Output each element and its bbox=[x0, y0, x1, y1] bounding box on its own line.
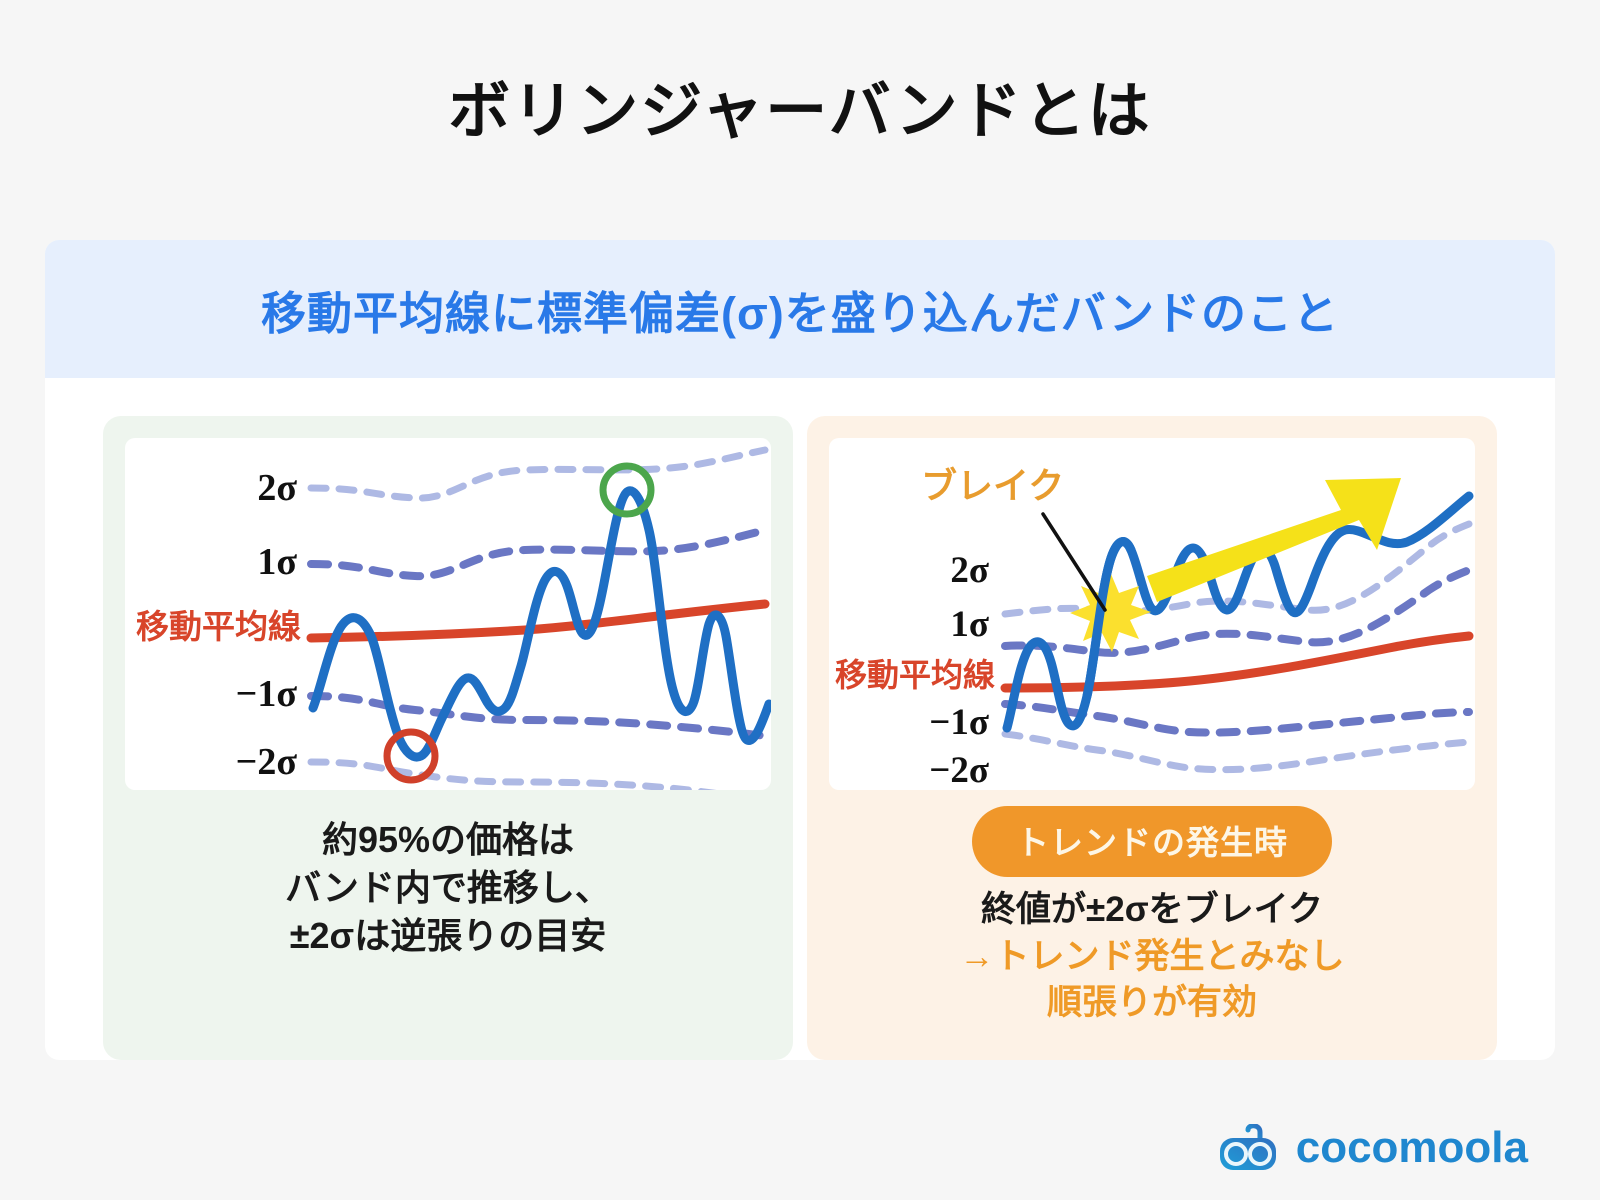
subtitle-text: 移動平均線に標準偏差(σ)を盛り込んだバンドのこと bbox=[261, 277, 1339, 342]
logo-text: cocomoola bbox=[1296, 1126, 1528, 1170]
label-minus-1sigma: −1σ bbox=[236, 673, 298, 715]
label-minus-2sigma: −2σ bbox=[236, 741, 298, 783]
label-moving-average: 移動平均線 bbox=[835, 657, 995, 693]
chart-range-market: 2σ 1σ 移動平均線 −1σ −2σ bbox=[125, 438, 771, 790]
caption-range-market: 約95%の価格は バンド内で推移し、 ±2σは逆張りの目安 bbox=[285, 816, 611, 960]
band-upper-1sigma bbox=[311, 530, 765, 576]
band-lower-2sigma bbox=[311, 762, 765, 790]
label-minus-1sigma: −1σ bbox=[929, 702, 989, 743]
label-moving-average: 移動平均線 bbox=[136, 608, 301, 645]
label-plus-1sigma: 1σ bbox=[257, 541, 297, 583]
content-card: 移動平均線に標準偏差(σ)を盛り込んだバンドのこと 2σ 1σ 移動平均線 −1… bbox=[45, 240, 1555, 1060]
label-minus-2sigma: −2σ bbox=[929, 750, 989, 790]
brand-logo[interactable]: cocomoola bbox=[1218, 1124, 1528, 1172]
label-plus-2sigma: 2σ bbox=[257, 467, 297, 509]
caption-line-1: 終値が±2σをブレイク bbox=[959, 887, 1344, 934]
status-badge: トレンドの発生時 bbox=[972, 806, 1332, 877]
page-title: ボリンジャーバンドとは bbox=[0, 78, 1600, 146]
caption-line-3: 順張りが有効 bbox=[959, 980, 1344, 1027]
line-moving-average bbox=[1005, 636, 1469, 688]
label-plus-1sigma: 1σ bbox=[950, 604, 989, 645]
panels-container: 2σ 1σ 移動平均線 −1σ −2σ bbox=[45, 378, 1555, 1060]
annotation-break-label: ブレイク bbox=[921, 465, 1064, 506]
panel-trend-market: 2σ 1σ 移動平均線 −1σ −2σ bbox=[807, 416, 1497, 1060]
caption-line-1: 約95%の価格は bbox=[285, 816, 611, 864]
caption-line-3: ±2σは逆張りの目安 bbox=[285, 912, 611, 960]
subtitle-band: 移動平均線に標準偏差(σ)を盛り込んだバンドのこと bbox=[45, 240, 1555, 378]
label-plus-2sigma: 2σ bbox=[950, 550, 989, 591]
chart-trend-market: 2σ 1σ 移動平均線 −1σ −2σ bbox=[829, 438, 1475, 790]
caption-line-2: バンド内で推移し、 bbox=[285, 864, 611, 912]
robot-glasses-icon bbox=[1218, 1124, 1280, 1172]
band-upper-2sigma bbox=[311, 450, 765, 498]
panel-range-market: 2σ 1σ 移動平均線 −1σ −2σ bbox=[103, 416, 793, 1060]
caption-line-2: →トレンド発生とみなし bbox=[959, 934, 1344, 981]
trend-arrow-icon bbox=[1147, 478, 1401, 602]
caption-trend-market: 終値が±2σをブレイク →トレンド発生とみなし 順張りが有効 bbox=[959, 887, 1344, 1027]
callout-pointer-line bbox=[1043, 514, 1105, 610]
band-lower-2sigma bbox=[1005, 734, 1469, 770]
